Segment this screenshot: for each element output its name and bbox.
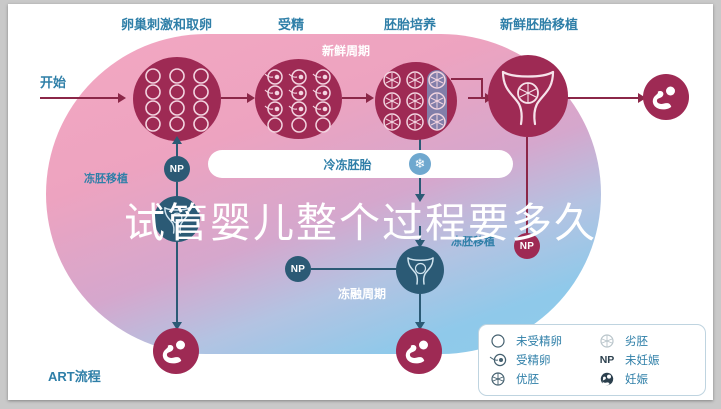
fresh-cycle-title: 新鲜周期 [322,42,370,59]
np-icon: NP [598,351,616,369]
start-arrow-head [118,93,126,103]
legend-column-left: 未受精卵 受精卵 [489,332,586,388]
embryo-culture-node[interactable] [375,62,457,140]
legend-label-no-pregnancy: 未妊娠 [625,352,660,368]
baby-bottom-mid-node[interactable] [396,328,442,374]
legend-label-fertilized-egg: 受精卵 [516,352,551,368]
watermark-text: 试管婴儿整个过程要多久 [8,189,713,249]
stage-label-embryo-culture: 胚胎培养 [384,14,436,33]
legend-box: 未受精卵 受精卵 [478,324,706,396]
frozen-embryo-label: 冷冻胚胎 [323,156,371,173]
uterus-blue-center-icon [405,254,436,286]
legend-column-right: 劣胚 NP 未妊娠 [598,332,695,388]
frozen-embryo-bar[interactable]: 冷冻胚胎 [208,150,513,178]
legend-label-pregnancy: 妊娠 [625,371,648,387]
stage-label-fertilization: 受精 [278,14,304,33]
fertilized-eggs-grid-icon [262,68,336,130]
connector-left-transfer-to-baby [176,242,178,328]
unfertilized-eggs-grid-icon [141,66,213,132]
frozen-transfer-node-center[interactable] [396,246,444,294]
legend-label-unfertilized-egg: 未受精卵 [516,333,562,349]
connector-culture-to-transfer-vert [481,78,483,98]
connector-eggs-to-fert-head [247,93,255,103]
poor-embryo-icon [598,332,616,350]
baby-bottom-left-node[interactable] [153,328,199,374]
fresh-transfer-node[interactable] [488,55,568,137]
infographic-card: 新鲜周期 冻融周期 卵巢刺激和取卵 受精 胚胎培养 新鲜胚胎移植 开始 [8,4,713,400]
pregnancy-baby-icon [651,82,681,112]
oocyte-retrieval-node[interactable] [133,57,221,141]
fertilization-node[interactable] [255,59,342,139]
good-embryo-icon [489,370,507,388]
np-marker-left: NP [164,156,190,182]
connector-fert-to-culture-head [366,93,374,103]
legend-item-poor-embryo: 劣胚 [598,332,695,350]
screenshot-stage: 新鲜周期 冻融周期 卵巢刺激和取卵 受精 胚胎培养 新鲜胚胎移植 开始 [0,0,721,409]
stage-label-ovarian-stimulation: 卵巢刺激和取卵 [121,14,212,33]
fet-label-left: 冻胚移植 [84,170,128,186]
legend-item-pregnancy: 妊娠 [598,370,695,388]
legend-label-poor-embryo: 劣胚 [625,333,648,349]
fertilized-egg-icon [489,351,507,369]
unfertilized-egg-icon [489,332,507,350]
legend-item-fertilized-egg: 受精卵 [489,351,586,369]
legend-item-good-embryo: 优胚 [489,370,586,388]
legend-label-good-embryo: 优胚 [516,371,539,387]
pregnancy-baby-icon-2 [161,336,191,366]
stage-label-fresh-transfer: 新鲜胚胎移植 [500,14,578,33]
connector-transfer-to-baby [564,97,641,99]
pregnancy-icon [598,370,616,388]
pregnancy-baby-icon-3 [404,336,434,366]
legend-item-no-pregnancy: NP 未妊娠 [598,351,695,369]
start-arrow-line [40,97,120,99]
connector-culture-to-transfer-top [451,78,483,80]
connector-np-left-arrow [172,136,182,144]
legend-item-unfertilized-egg: 未受精卵 [489,332,586,350]
baby-right-node[interactable] [643,74,689,120]
thaw-cycle-title: 冻融周期 [338,285,386,302]
art-flow-label: ART流程 [48,366,101,385]
snowflake-icon: ❄ [409,153,431,175]
embryo-grid-icon [381,72,451,130]
connector-np-center-to-uterus [311,268,408,270]
uterus-icon [497,64,559,128]
start-label: 开始 [40,72,66,91]
np-marker-center: NP [285,256,311,282]
